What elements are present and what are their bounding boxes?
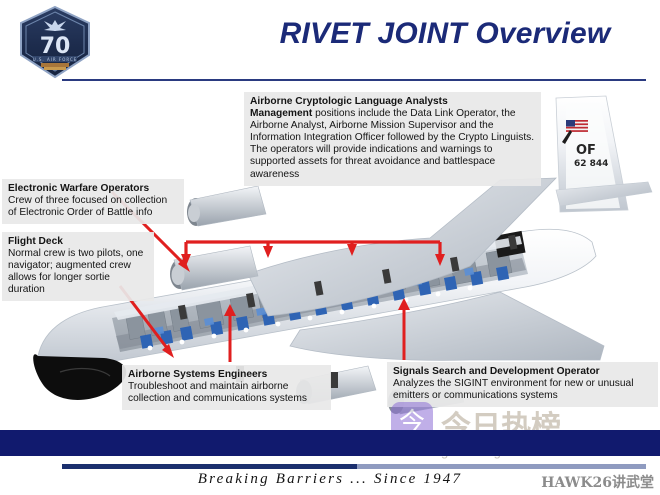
hawk26-logo: HAWK26讲武堂 [541, 472, 654, 492]
tail-serial: 62 844 [574, 159, 608, 169]
callout-airborne-systems-engineers: Airborne Systems Engineers Troubleshoot … [122, 365, 331, 410]
callout-heading: Electronic Warfare Operators [8, 183, 178, 195]
callout-signals-search-and-development-operator: Signals Search and Development Operator … [387, 362, 658, 407]
callout-heading: Airborne Systems Engineers [128, 369, 325, 381]
callout-heading: Airborne Cryptologic Language Analysts [250, 96, 448, 107]
footer-divider-dark-segment [62, 464, 357, 469]
radome-nose [33, 354, 126, 400]
footer-divider-light-segment [357, 464, 646, 469]
us-flag-marking [566, 120, 588, 132]
callout-body: Crew of three focused on collection of E… [8, 195, 178, 219]
emblem-number: 70 [40, 34, 71, 59]
callout-body: Normal crew is two pilots, one navigator… [8, 248, 148, 296]
tail-code: OF [576, 143, 596, 158]
callout-heading: Flight Deck [8, 236, 148, 248]
callout-flight-deck: Flight Deck Normal crew is two pilots, o… [2, 232, 154, 301]
callout-body: Troubleshoot and maintain airborne colle… [128, 381, 325, 405]
callout-airborne-cryptologic-language-analysts: Airborne Cryptologic Language Analysts M… [244, 92, 541, 186]
footer-divider [62, 464, 646, 469]
callout-lead-bold: Management [250, 108, 312, 119]
callout-body: Analyzes the SIGINT environment for new … [393, 378, 652, 402]
banner-text: (U) RC-135 internal PED ensures critical… [0, 0, 660, 26]
slide-root: 70 U.S. AIR FORCE RIVET JOINT Overview [0, 0, 660, 495]
callout-heading: Signals Search and Development Operator [393, 366, 652, 378]
classification-banner [0, 430, 660, 456]
callout-electronic-warfare-operators: Electronic Warfare Operators Crew of thr… [2, 179, 184, 224]
